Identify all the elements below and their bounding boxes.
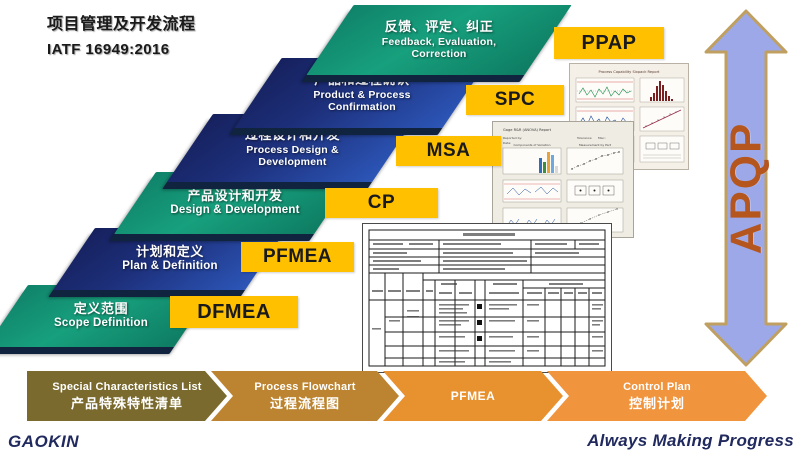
svg-text:Process Capability Sixpack Rep: Process Capability Sixpack Report	[599, 70, 661, 74]
tag-label: CP	[368, 192, 395, 214]
chevron-label-cn: 过程流程图	[270, 396, 340, 412]
process-chevron-bar: Special Characteristics List 产品特殊特性清单 Pr…	[27, 371, 767, 421]
slide-canvas: 项目管理及开发流程 IATF 16949:2016 定义范围 Scope Def…	[0, 0, 802, 461]
step-plan-definition[interactable]: 计划和定义 Plan & Definition	[74, 228, 266, 290]
apqp-arrow[interactable]: APQP	[703, 8, 789, 368]
svg-text:Components of Variation: Components of Variation	[513, 143, 550, 147]
msa-chart-graphic: Gage R&R (ANOVA) Report Reported by:Tole…	[493, 122, 633, 237]
chevron-label-en: Special Characteristics List	[52, 381, 201, 394]
chevron-label-en: Control Plan	[623, 381, 691, 394]
svg-text:Tolerance:: Tolerance:	[576, 136, 592, 140]
page-title: 项目管理及开发流程 IATF 16949:2016	[47, 14, 196, 60]
tag-pfmea[interactable]: PFMEA	[241, 242, 354, 272]
chevron-label-en: Process Flowchart	[254, 381, 355, 394]
fmea-worksheet-thumbnail[interactable]	[362, 223, 612, 373]
tag-label: SPC	[495, 89, 536, 111]
fmea-table-graphic	[363, 224, 611, 372]
chevron-label-cn: 控制计划	[629, 396, 685, 412]
chevron-process-flowchart[interactable]: Process Flowchart 过程流程图	[211, 371, 399, 421]
chevron-label-cn: 产品特殊特性清单	[71, 396, 183, 412]
tag-label: DFMEA	[197, 301, 271, 324]
tag-label: PPAP	[582, 32, 637, 55]
msa-gage-rr-thumbnail[interactable]: Gage R&R (ANOVA) Report Reported by:Tole…	[492, 121, 634, 238]
chevron-label-en: PFMEA	[451, 389, 496, 403]
tag-dfmea[interactable]: DFMEA	[170, 296, 298, 328]
slogan: Always Making Progress	[587, 431, 794, 451]
title-standard: IATF 16949:2016	[47, 40, 196, 60]
tag-label: MSA	[427, 140, 471, 162]
brand-name: GAOKIN	[8, 432, 79, 452]
svg-text:Misc:: Misc:	[598, 136, 606, 140]
svg-text:Reported by:: Reported by:	[503, 136, 522, 140]
step-face	[306, 5, 571, 75]
svg-text:Measurement by Part: Measurement by Part	[579, 143, 612, 147]
tag-msa[interactable]: MSA	[396, 136, 501, 166]
tag-label: PFMEA	[263, 246, 332, 268]
chevron-pfmea[interactable]: PFMEA	[383, 371, 563, 421]
chevron-control-plan[interactable]: Control Plan 控制计划	[547, 371, 767, 421]
tag-spc[interactable]: SPC	[466, 85, 564, 115]
step-feedback-evaluation-correction[interactable]: 反馈、评定、纠正 Feedback, Evaluation, Correctio…	[330, 5, 548, 75]
step-scope-definition[interactable]: 定义范围 Scope Definition	[7, 285, 195, 347]
tag-cp[interactable]: CP	[325, 188, 438, 218]
tag-ppap[interactable]: PPAP	[554, 27, 664, 59]
svg-text:Date:: Date:	[503, 141, 511, 145]
chevron-special-characteristics-list[interactable]: Special Characteristics List 产品特殊特性清单	[27, 371, 227, 421]
svg-text:Gage R&R (ANOVA) Report: Gage R&R (ANOVA) Report	[503, 128, 552, 132]
title-chinese: 项目管理及开发流程	[47, 14, 196, 36]
apqp-double-arrow-icon	[703, 8, 789, 368]
